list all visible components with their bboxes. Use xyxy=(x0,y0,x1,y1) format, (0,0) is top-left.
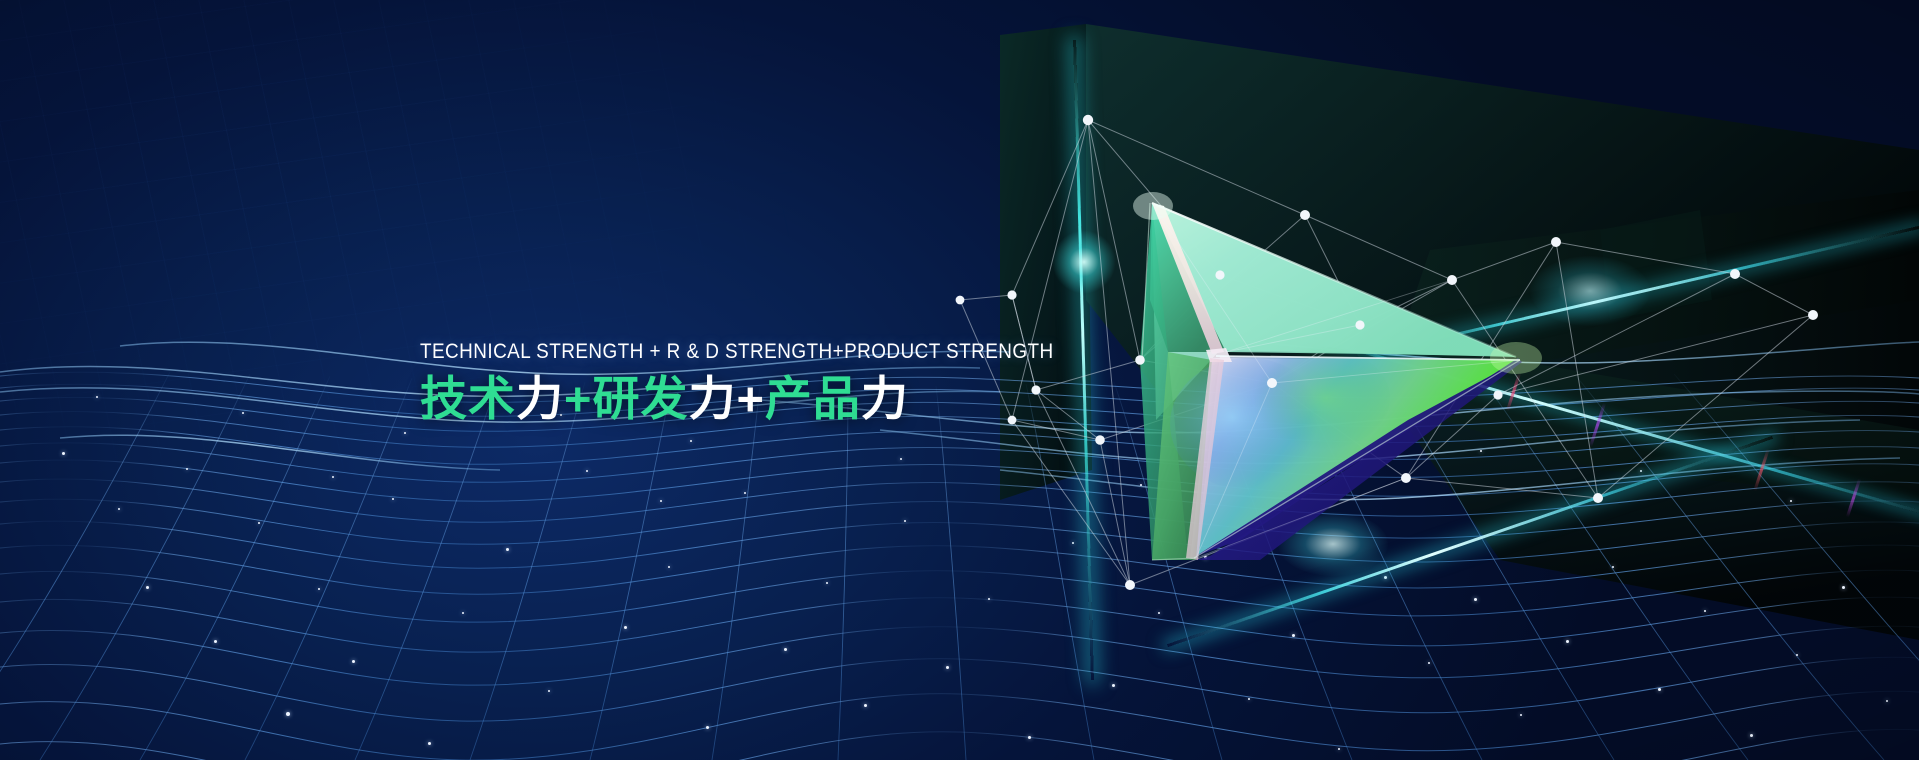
headline-seg-0: 技术 xyxy=(420,372,516,425)
headline-seg-1: 力 xyxy=(516,372,564,425)
headline-seg-6: 产品 xyxy=(765,372,861,425)
hero-copy: TECHNICAL STRENGTH + R & D STRENGTH+PROD… xyxy=(420,338,1180,428)
headline-seg-5: + xyxy=(736,372,764,425)
headline-seg-2: + xyxy=(564,372,592,425)
hero-eyebrow: TECHNICAL STRENGTH + R & D STRENGTH+PROD… xyxy=(420,338,1089,364)
hero-banner: TECHNICAL STRENGTH + R & D STRENGTH+PROD… xyxy=(0,0,1919,760)
headline-seg-3: 研发 xyxy=(592,372,688,425)
headline-seg-7: 力 xyxy=(861,372,909,425)
headline-seg-4: 力 xyxy=(688,372,736,425)
hero-headline: 技术力+研发力+产品力 xyxy=(420,370,1180,428)
